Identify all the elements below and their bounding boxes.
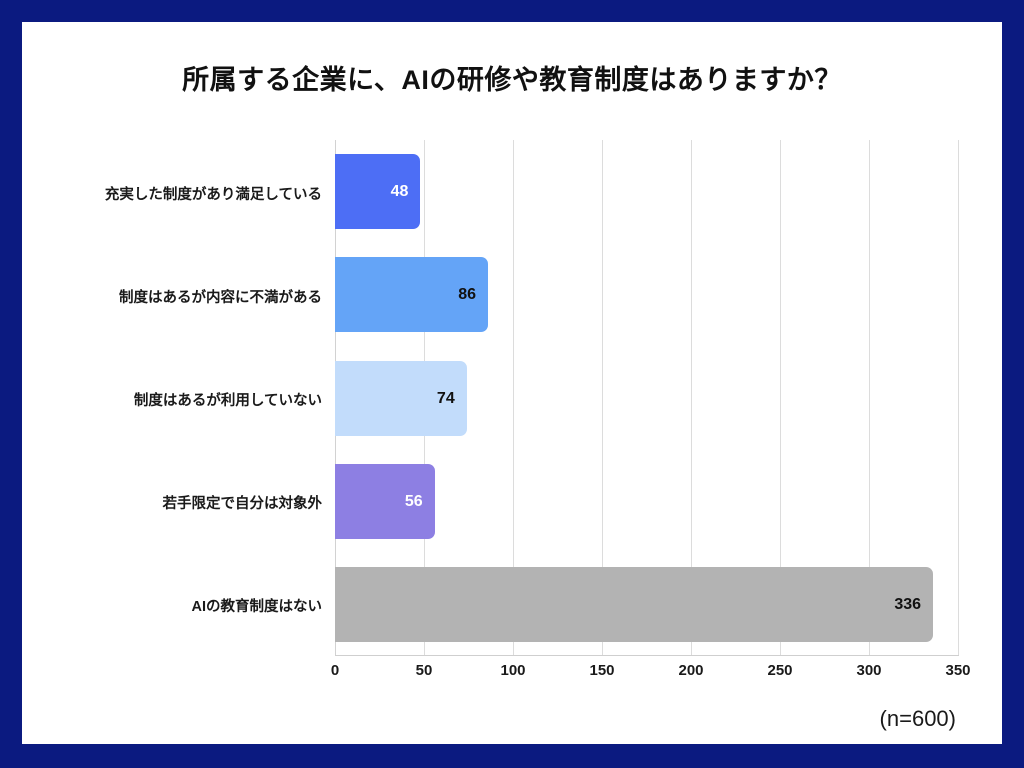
bar-row[interactable]: 48 — [335, 154, 958, 229]
slide-frame: 所属する企業に、AIの研修や教育制度はありますか？ 充実した制度があり満足してい… — [0, 0, 1024, 768]
bar-value-label: 86 — [335, 257, 476, 332]
bar-row[interactable]: 56 — [335, 464, 958, 539]
category-label: 制度はあるが内容に不満がある — [22, 286, 322, 307]
bar-row[interactable]: 336 — [335, 567, 958, 642]
category-label: AIの教育制度はない — [22, 595, 322, 616]
page-title: 所属する企業に、AIの研修や教育制度はありますか？ — [22, 58, 1002, 97]
category-label: 制度はあるが利用していない — [22, 389, 322, 410]
bar-value-label: 56 — [335, 464, 423, 539]
bar-value-label: 48 — [335, 154, 408, 229]
sample-size-annotation: (n=600) — [880, 706, 956, 732]
gridline-350 — [958, 140, 959, 656]
category-axis-labels: 充実した制度があり満足している制度はあるが内容に不満がある制度はあるが利用してい… — [22, 140, 322, 656]
chart-panel: 所属する企業に、AIの研修や教育制度はありますか？ 充実した制度があり満足してい… — [22, 22, 1002, 744]
x-tick-label-200: 200 — [678, 662, 703, 679]
category-label: 若手限定で自分は対象外 — [22, 492, 322, 513]
x-tick-label-50: 50 — [416, 662, 433, 679]
x-tick-label-0: 0 — [331, 662, 339, 679]
category-label: 充実した制度があり満足している — [22, 183, 322, 204]
plot-area: 48867456336 — [335, 140, 958, 656]
x-tick-label-150: 150 — [589, 662, 614, 679]
x-tick-label-100: 100 — [500, 662, 525, 679]
bar-row[interactable]: 86 — [335, 257, 958, 332]
x-tick-label-300: 300 — [856, 662, 881, 679]
bar-value-label: 74 — [335, 361, 455, 436]
bar-row[interactable]: 74 — [335, 361, 958, 436]
x-axis-tick-labels: 050100150200250300350 — [22, 662, 1002, 688]
bar-value-label: 336 — [335, 567, 921, 642]
x-axis-line — [335, 655, 959, 656]
x-tick-label-350: 350 — [945, 662, 970, 679]
x-tick-label-250: 250 — [767, 662, 792, 679]
